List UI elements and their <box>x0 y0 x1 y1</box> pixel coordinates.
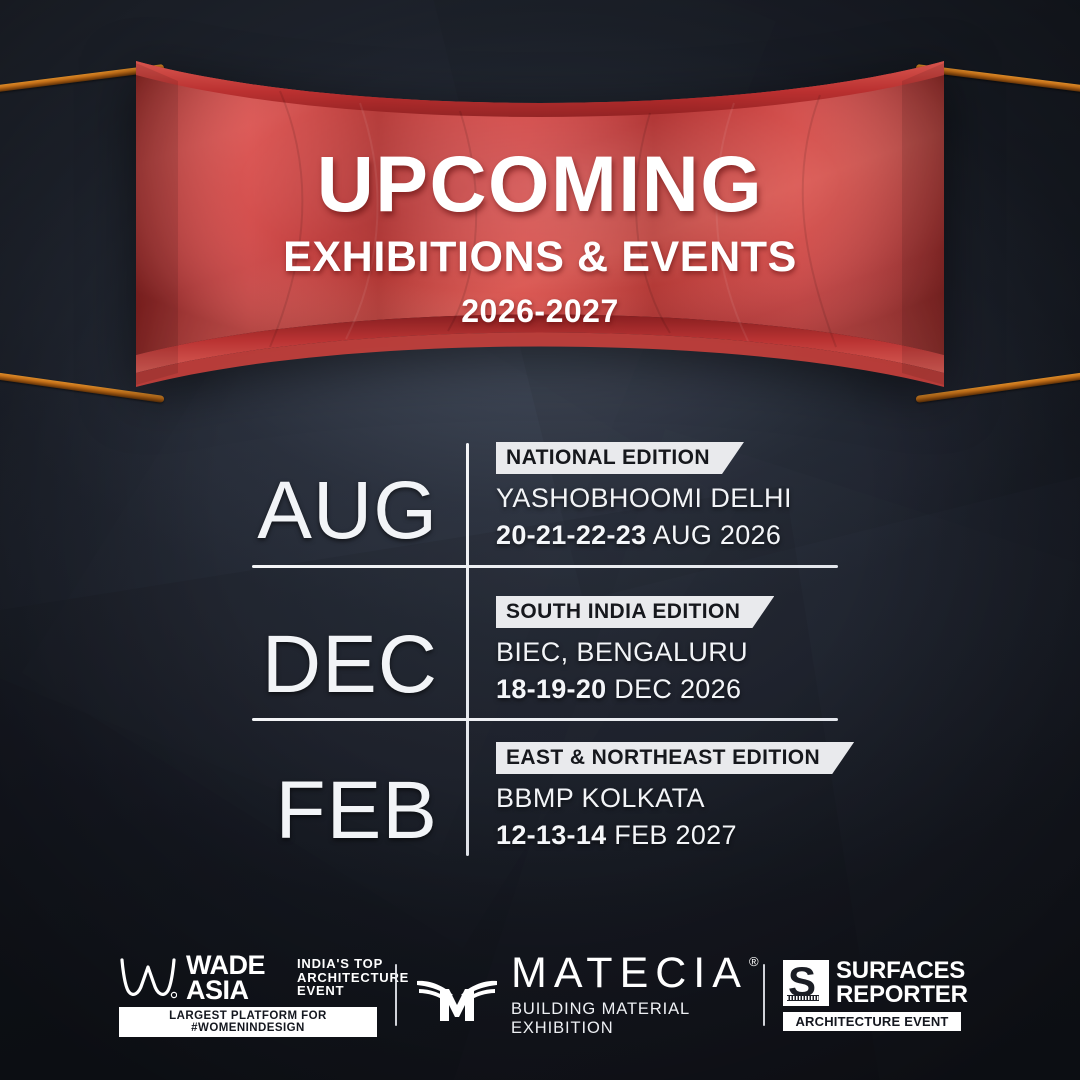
schedule-month: FEB <box>150 770 438 852</box>
surfaces-wordmark: SURFACES REPORTER <box>836 959 968 1007</box>
schedule-row[interactable]: FEB EAST & NORTHEAST EDITION BBMP KOLKAT… <box>0 742 1080 882</box>
banner-text-block: UPCOMING EXHIBITIONS & EVENTS 2026-2027 <box>130 55 950 395</box>
date-days: 12-13-14 <box>496 820 606 850</box>
surfaces-word-2: REPORTER <box>836 983 968 1007</box>
registered-trademark-icon: ® <box>749 954 759 969</box>
date-days: 20-21-22-23 <box>496 520 646 550</box>
footer-divider-2 <box>763 964 765 1026</box>
date-month-year: AUG 2026 <box>646 520 781 550</box>
schedule-detail: SOUTH INDIA EDITION BIEC, BENGALURU 18-1… <box>496 596 1016 705</box>
wade-word-2: ASIA <box>186 978 265 1003</box>
wade-w-mark-icon <box>119 956 177 1000</box>
surfaces-reporter-top-row: S SURFACES REPORTER <box>783 959 961 1007</box>
schedule-list: AUG NATIONAL EDITION YASHOBHOOMI DELHI 2… <box>0 430 1080 870</box>
venue-label: BBMP KOLKATA <box>496 783 1016 814</box>
banner-years: 2026-2027 <box>461 292 619 330</box>
edition-badge: EAST & NORTHEAST EDITION <box>496 742 854 774</box>
schedule-detail: NATIONAL EDITION YASHOBHOOMI DELHI 20-21… <box>496 442 1016 551</box>
wade-word-1: WADE <box>186 953 265 978</box>
wade-tagline-line-1: INDIA'S TOP <box>297 957 409 971</box>
matecia-name: MATECIA <box>511 952 748 995</box>
matecia-winged-m-icon <box>415 967 499 1023</box>
date-label: 18-19-20 DEC 2026 <box>496 674 1016 705</box>
schedule-row[interactable]: AUG NATIONAL EDITION YASHOBHOOMI DELHI 2… <box>0 442 1080 582</box>
date-month-year: FEB 2027 <box>606 820 736 850</box>
footer-logo-bar: WADE ASIA INDIA'S TOP ARCHITECTURE EVENT… <box>0 945 1080 1045</box>
wade-asia-top-row: WADE ASIA INDIA'S TOP ARCHITECTURE EVENT <box>119 953 377 1003</box>
date-days: 18-19-20 <box>496 674 606 704</box>
wade-asia-wordmark: WADE ASIA <box>186 953 265 1003</box>
edition-badge: NATIONAL EDITION <box>496 442 744 474</box>
surfaces-s-mark-icon: S <box>783 960 829 1006</box>
date-label: 12-13-14 FEB 2027 <box>496 820 1016 851</box>
date-label: 20-21-22-23 AUG 2026 <box>496 520 1016 551</box>
wade-tagline: INDIA'S TOP ARCHITECTURE EVENT <box>297 957 409 998</box>
banner-subtitle: EXHIBITIONS & EVENTS <box>283 232 797 284</box>
matecia-subtitle: BUILDING MATERIAL EXHIBITION <box>511 1000 759 1038</box>
surfaces-reporter-logo[interactable]: S SURFACES REPORTER ARCHITECTURE EVENT <box>783 959 961 1031</box>
venue-label: BIEC, BENGALURU <box>496 637 1016 668</box>
wade-tagline-line-3: EVENT <box>297 984 409 998</box>
wade-asia-logo[interactable]: WADE ASIA INDIA'S TOP ARCHITECTURE EVENT… <box>119 953 377 1038</box>
schedule-month: AUG <box>150 470 438 552</box>
surfaces-word-1: SURFACES <box>836 959 968 983</box>
banner-title: UPCOMING <box>317 146 764 222</box>
date-month-year: DEC 2026 <box>606 674 741 704</box>
schedule-month: DEC <box>150 624 438 706</box>
matecia-wordmark: MATECIA ® BUILDING MATERIAL EXHIBITION <box>511 952 759 1038</box>
footer-divider-1 <box>395 964 397 1026</box>
wade-tagline-line-2: ARCHITECTURE <box>297 971 409 985</box>
schedule-detail: EAST & NORTHEAST EDITION BBMP KOLKATA 12… <box>496 742 1016 851</box>
venue-label: YASHOBHOOMI DELHI <box>496 483 1016 514</box>
surfaces-barcode-strip-icon <box>787 995 819 1001</box>
wade-platform-bar: LARGEST PLATFORM FOR #WOMENINDESIGN <box>119 1007 377 1037</box>
matecia-logo[interactable]: MATECIA ® BUILDING MATERIAL EXHIBITION <box>415 952 745 1038</box>
hero-banner: UPCOMING EXHIBITIONS & EVENTS 2026-2027 <box>130 55 950 395</box>
poster-canvas: UPCOMING EXHIBITIONS & EVENTS 2026-2027 … <box>0 0 1080 1080</box>
surfaces-event-bar: ARCHITECTURE EVENT <box>783 1012 961 1031</box>
schedule-row[interactable]: DEC SOUTH INDIA EDITION BIEC, BENGALURU … <box>0 596 1080 736</box>
edition-badge: SOUTH INDIA EDITION <box>496 596 774 628</box>
